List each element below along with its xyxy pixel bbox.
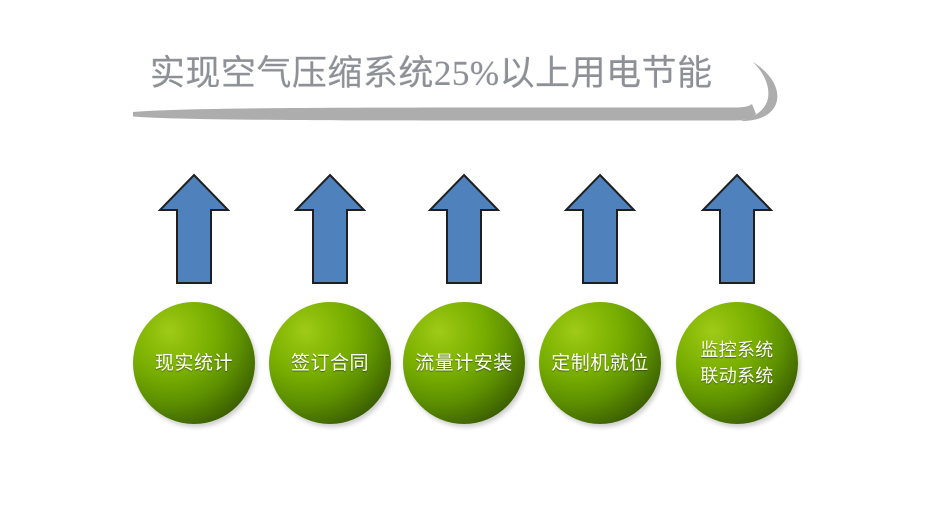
up-arrow-icon — [563, 172, 637, 286]
process-flow: 现实统计 签订合同 流量计安装 — [0, 0, 945, 529]
flow-step-3[interactable]: 流量计安装 — [399, 0, 529, 529]
flow-step-label: 监控系统 联动系统 — [696, 337, 777, 389]
up-arrow-icon — [157, 172, 231, 286]
flow-step-label: 签订合同 — [287, 351, 373, 376]
flow-step-4[interactable]: 定制机就位 — [535, 0, 665, 529]
flow-sphere-1[interactable]: 现实统计 — [133, 302, 255, 424]
flow-sphere-5[interactable]: 监控系统 联动系统 — [676, 302, 798, 424]
up-arrow-icon — [427, 172, 501, 286]
flow-step-label: 现实统计 — [151, 351, 237, 376]
flow-step-5[interactable]: 监控系统 联动系统 — [672, 0, 802, 529]
up-arrow-icon — [293, 172, 367, 286]
flow-sphere-2[interactable]: 签订合同 — [269, 302, 391, 424]
flow-step-1[interactable]: 现实统计 — [129, 0, 259, 529]
flow-step-label: 流量计安装 — [411, 351, 517, 376]
slide-canvas: 实现空气压缩系统25%以上用电节能 现实统计 签订合同 — [0, 0, 945, 529]
up-arrow-icon — [700, 172, 774, 286]
flow-step-label: 定制机就位 — [547, 351, 653, 376]
flow-step-2[interactable]: 签订合同 — [265, 0, 395, 529]
flow-sphere-3[interactable]: 流量计安装 — [403, 302, 525, 424]
flow-sphere-4[interactable]: 定制机就位 — [539, 302, 661, 424]
